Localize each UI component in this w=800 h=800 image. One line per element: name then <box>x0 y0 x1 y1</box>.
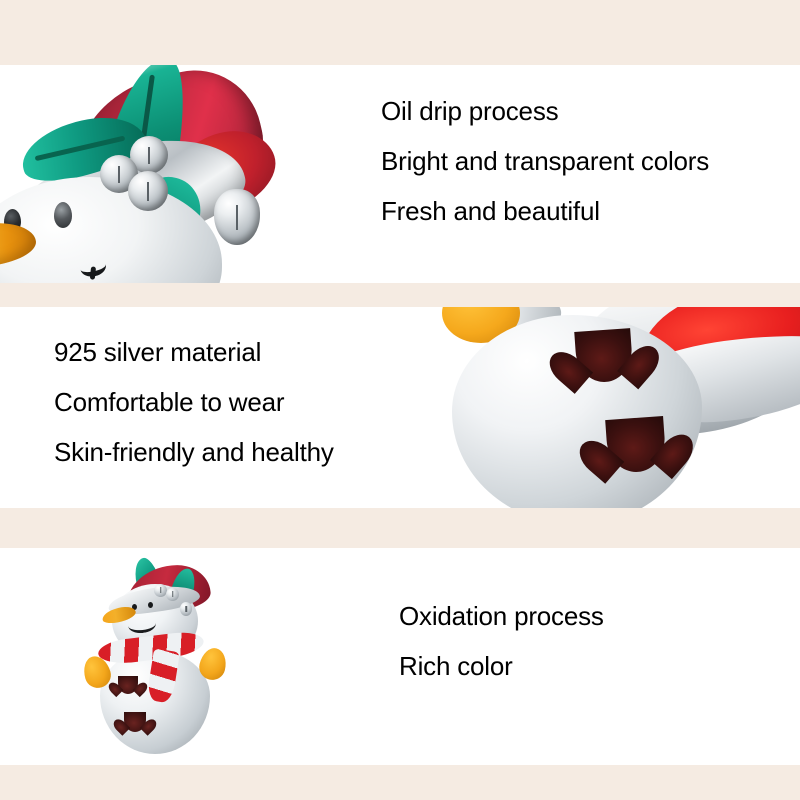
feature-line: 925 silver material <box>54 339 334 365</box>
snowman-eye-right <box>148 602 153 608</box>
feature-text-block-3: Oxidation process Rich color <box>399 603 604 679</box>
feature-line: Rich color <box>399 653 604 679</box>
feature-text-block-1: Oil drip process Bright and transparent … <box>381 98 709 224</box>
feature-panel-oil-drip: Oil drip process Bright and transparent … <box>0 65 800 283</box>
feature-text-block-2: 925 silver material Comfortable to wear … <box>54 339 334 465</box>
heart-button-icon <box>118 676 138 694</box>
feature-line: Skin-friendly and healthy <box>54 439 334 465</box>
feature-panel-oxidation: Oxidation process Rich color <box>0 548 800 765</box>
snowman-charm-full-image <box>76 560 262 756</box>
feature-line: Oxidation process <box>399 603 604 629</box>
silver-berry-icon <box>128 171 168 211</box>
marketing-image-root: Oil drip process Bright and transparent … <box>0 0 800 800</box>
heart-button-icon <box>124 712 146 732</box>
feature-line: Oil drip process <box>381 98 709 124</box>
feature-line: Bright and transparent colors <box>381 148 709 174</box>
silver-berry-icon <box>166 588 179 601</box>
heart-button-icon <box>605 416 667 474</box>
silver-berry-icon <box>180 602 192 616</box>
heart-button-icon <box>574 328 633 384</box>
feature-panel-silver-material: 925 silver material Comfortable to wear … <box>0 307 800 508</box>
snowman-eye-right <box>54 202 72 228</box>
silver-bell-icon <box>214 189 260 245</box>
feature-line: Fresh and beautiful <box>381 198 709 224</box>
feature-line: Comfortable to wear <box>54 389 334 415</box>
snowman-head-closeup-image <box>0 65 342 283</box>
snowman-body-closeup-image <box>452 307 800 508</box>
